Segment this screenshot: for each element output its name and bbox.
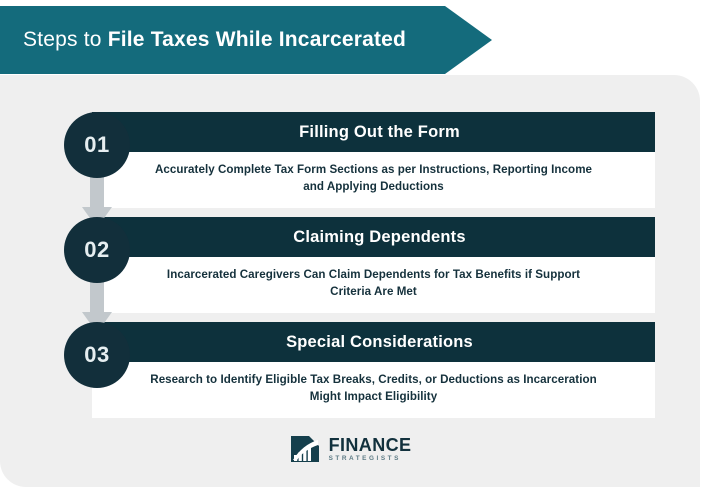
step-number-badge: 02 xyxy=(64,217,130,283)
finance-strategists-logo-icon xyxy=(289,434,323,464)
brand-wordmark: FINANCE STRATEGISTS xyxy=(329,436,412,462)
brand-name: FINANCE xyxy=(329,436,412,454)
step-title-bar: Filling Out the Form xyxy=(92,112,655,152)
step-number-badge: 03 xyxy=(64,322,130,388)
step-title-bar: Claiming Dependents xyxy=(92,217,655,257)
step-description: Research to Identify Eligible Tax Breaks… xyxy=(148,372,599,406)
step-number: 03 xyxy=(84,342,109,368)
steps-list: Filling Out the Form Accurately Complete… xyxy=(0,0,720,497)
infographic-canvas: Steps to File Taxes While Incarcerated F… xyxy=(0,0,720,497)
step-body: Accurately Complete Tax Form Sections as… xyxy=(92,152,655,208)
step-description: Incarcerated Caregivers Can Claim Depend… xyxy=(148,267,599,301)
step-body: Research to Identify Eligible Tax Breaks… xyxy=(92,362,655,418)
step-title: Special Considerations xyxy=(274,333,473,352)
step-description: Accurately Complete Tax Form Sections as… xyxy=(148,162,599,196)
brand-tagline: STRATEGISTS xyxy=(329,456,412,462)
step-item: Claiming Dependents Incarcerated Caregiv… xyxy=(92,217,655,313)
footer-logo: FINANCE STRATEGISTS xyxy=(0,434,700,464)
step-number: 02 xyxy=(84,237,109,263)
brand-lockup: FINANCE STRATEGISTS xyxy=(289,434,412,464)
step-body: Incarcerated Caregivers Can Claim Depend… xyxy=(92,257,655,313)
step-item: Special Considerations Research to Ident… xyxy=(92,322,655,418)
step-number: 01 xyxy=(84,132,109,158)
step-title: Claiming Dependents xyxy=(281,228,466,247)
step-title: Filling Out the Form xyxy=(287,123,460,142)
step-number-badge: 01 xyxy=(64,112,130,178)
step-item: Filling Out the Form Accurately Complete… xyxy=(92,112,655,208)
step-title-bar: Special Considerations xyxy=(92,322,655,362)
